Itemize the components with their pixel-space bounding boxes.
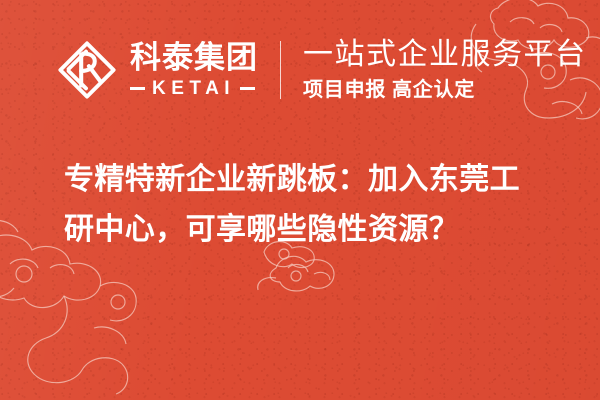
page-title: 专精特新企业新跳板：加入东莞工研中心，可享哪些隐性资源？ — [64, 155, 544, 255]
tagline-primary: 一站式企业服务平台 — [303, 39, 587, 71]
tagline-secondary: 项目申报 高企认定 — [303, 79, 587, 101]
promo-banner: 科泰集团 KETAI 一站式企业服务平台 项目申报 高企认定 专精特新企业新跳板… — [0, 0, 600, 400]
brand-name-cn: 科泰集团 — [130, 42, 258, 73]
diamond-monogram-icon — [56, 39, 118, 101]
wordmark-dash-left — [130, 87, 145, 90]
brand-logo: 科泰集团 KETAI — [56, 39, 258, 101]
brand-name-en: KETAI — [152, 79, 235, 98]
brand-name-en-row: KETAI — [130, 79, 258, 98]
wordmark-dash-right — [240, 87, 255, 90]
header-divider — [280, 41, 281, 99]
banner-header: 科泰集团 KETAI 一站式企业服务平台 项目申报 高企认定 — [0, 0, 600, 140]
brand-tagline: 一站式企业服务平台 项目申报 高企认定 — [303, 39, 587, 100]
brand-wordmark: 科泰集团 KETAI — [130, 42, 258, 98]
